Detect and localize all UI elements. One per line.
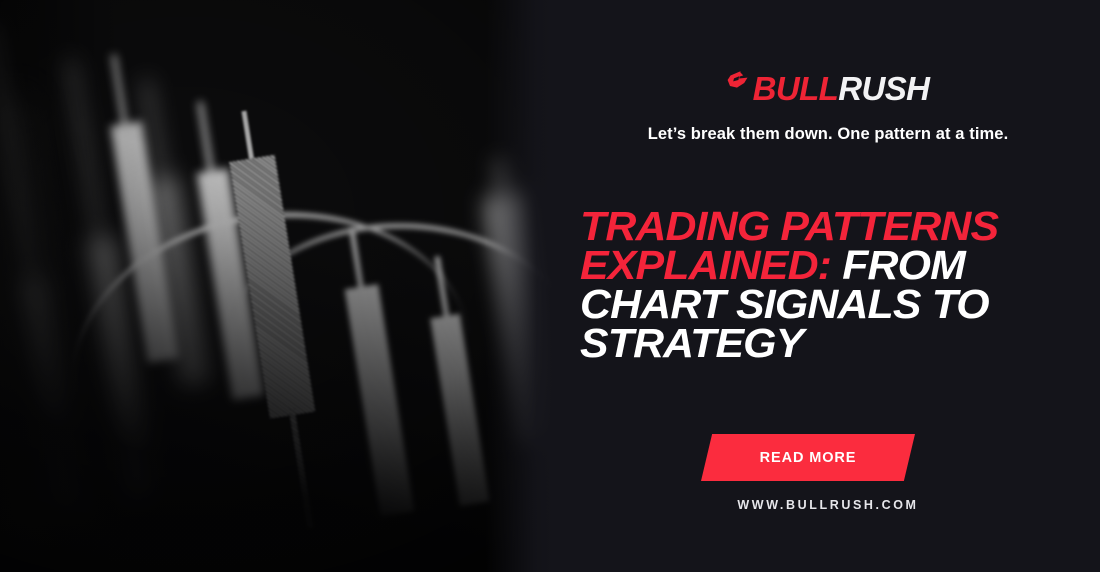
read-more-button[interactable]: READ MORE xyxy=(701,434,915,481)
logo-word-rush: RUSH xyxy=(838,70,929,107)
logo-word-bull: BULL xyxy=(753,70,839,107)
tagline: Let’s break them down. One pattern at a … xyxy=(556,125,1100,144)
hero-image xyxy=(0,0,556,572)
content-panel: BULLRUSH Let’s break them down. One patt… xyxy=(556,0,1100,572)
candlestick-photo-content xyxy=(0,0,556,572)
promo-banner: BULLRUSH Let’s break them down. One patt… xyxy=(0,0,1100,572)
headline-line-4: STRATEGY xyxy=(580,320,803,366)
bull-head-icon xyxy=(727,69,757,103)
brand-logo[interactable]: BULLRUSH xyxy=(556,66,1100,110)
site-url: WWW.BULLRUSH.COM xyxy=(556,498,1100,512)
page-title: TRADING PATTERNS EXPLAINED: FROM CHART S… xyxy=(580,207,1100,364)
logo-wordmark: BULLRUSH xyxy=(753,72,930,105)
read-more-label: READ MORE xyxy=(760,450,857,466)
